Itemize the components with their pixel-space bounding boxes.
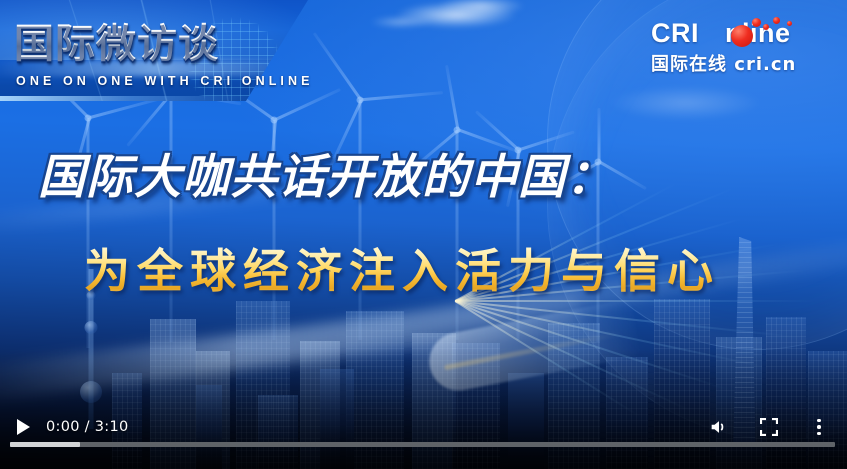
bubble-icon (752, 18, 761, 27)
cri-logo-subtitle: 国际在线 cri.cn (651, 50, 796, 76)
player-controls-right-group (701, 409, 839, 445)
volume-icon (708, 416, 730, 438)
more-options-button[interactable] (801, 409, 837, 445)
banner-underline (0, 96, 260, 101)
cri-wordmark-main: CRI (651, 18, 699, 48)
cri-wordmark: CRInline (651, 18, 791, 49)
player-controls-row: 0:00 / 3:10 (0, 407, 847, 447)
progress-bar[interactable] (10, 442, 835, 447)
progress-track[interactable] (10, 442, 835, 447)
more-options-icon (817, 419, 821, 436)
bubble-icon (787, 21, 792, 26)
time-display: 0:00 / 3:10 (46, 419, 129, 435)
video-player[interactable]: 国际大咖共话开放的中国： 为全球经济注入活力与信心 为全球经济注入活力与信心 国… (0, 0, 847, 469)
cri-online-logo[interactable]: CRInline 国际在线 cri.cn (651, 18, 831, 76)
cri-logo-cn: 国际在线 (651, 54, 727, 75)
progress-buffered (10, 442, 80, 447)
bubble-icon (731, 25, 753, 47)
player-controls: 0:00 / 3:10 (0, 407, 847, 469)
fullscreen-icon (760, 418, 778, 436)
fullscreen-button[interactable] (751, 409, 787, 445)
volume-button[interactable] (701, 409, 737, 445)
headline-line-2: 为全球经济注入活力与信心 (84, 242, 720, 300)
headline-line-1: 国际大咖共话开放的中国： (38, 150, 614, 206)
program-subtitle: ONE ON ONE WITH CRI ONLINE (16, 74, 314, 88)
cri-logo-domain: cri.cn (734, 54, 796, 75)
play-button[interactable] (4, 409, 40, 445)
bubble-icon (773, 17, 780, 24)
program-title: 国际微访谈 (14, 20, 219, 68)
play-icon (17, 419, 30, 435)
bubble-icon (763, 24, 769, 30)
